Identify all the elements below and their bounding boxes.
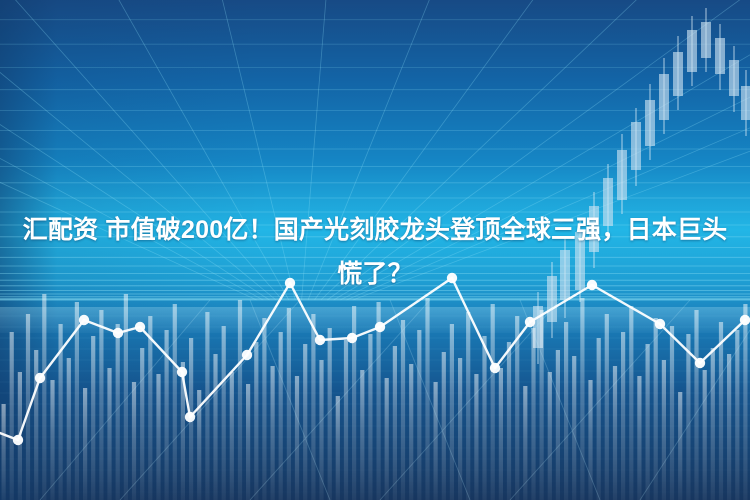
- financial-news-banner: 汇配资 市值破200亿！国产光刻胶龙头登顶全球三强，日本巨头慌了？: [0, 0, 750, 500]
- page-title: 汇配资 市值破200亿！国产光刻胶龙头登顶全球三强，日本巨头慌了？: [0, 208, 750, 296]
